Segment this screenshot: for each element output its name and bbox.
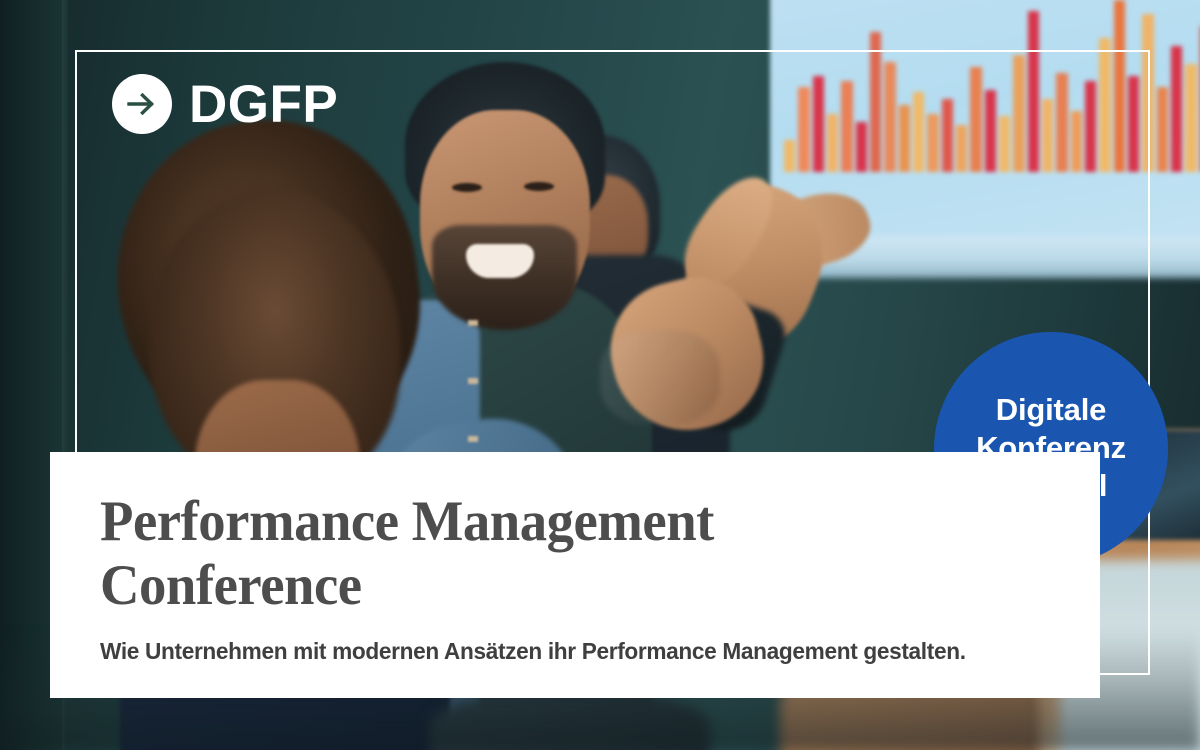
chart-bar [784, 140, 795, 172]
chart-bar [813, 76, 824, 172]
page-subtitle: Wie Unternehmen mit modernen Ansätzen ih… [100, 637, 1036, 667]
arrow-right-circle-icon [112, 74, 172, 134]
chart-bar [1042, 99, 1053, 172]
chart-bar [1028, 11, 1039, 172]
chart-bar [1185, 64, 1196, 172]
chart-bar [1085, 81, 1096, 172]
content-panel: Performance Management Conference Wie Un… [50, 452, 1100, 698]
chart-bar [1142, 14, 1153, 172]
chart-bar [956, 125, 967, 172]
man-eye-left [452, 183, 482, 192]
chart-bar [841, 81, 852, 172]
chart-bar [1157, 87, 1168, 172]
chart-bar [1013, 55, 1024, 172]
bar-chart [770, 0, 1200, 200]
chart-bar [899, 105, 910, 172]
promo-banner: DGFP Digitale Konferenz im April Perform… [0, 0, 1200, 750]
chart-bar [798, 87, 809, 172]
chart-bar [1099, 38, 1110, 172]
chart-bar [1128, 76, 1139, 172]
chart-bar [942, 99, 953, 172]
brand-name: DGFP [189, 78, 338, 131]
chart-bar [970, 67, 981, 172]
man-eye-right [524, 182, 554, 191]
chart-bar [927, 114, 938, 172]
chart-bar [856, 122, 867, 172]
clapping-hand-lower-fingers [600, 330, 720, 425]
chart-bar [913, 92, 924, 172]
chart-bar [1071, 111, 1082, 172]
chart-bar [1171, 46, 1182, 172]
chart-bar [1056, 73, 1067, 172]
chart-bar [827, 114, 838, 172]
man-smile [466, 244, 534, 278]
dgfp-logo[interactable]: DGFP [112, 74, 338, 134]
chart-bar [985, 90, 996, 172]
chart-bar [999, 116, 1010, 172]
chart-bar [884, 62, 895, 172]
chart-bar [1114, 0, 1125, 172]
page-title: Performance Management Conference [100, 490, 1012, 618]
chart-bar [870, 32, 881, 172]
